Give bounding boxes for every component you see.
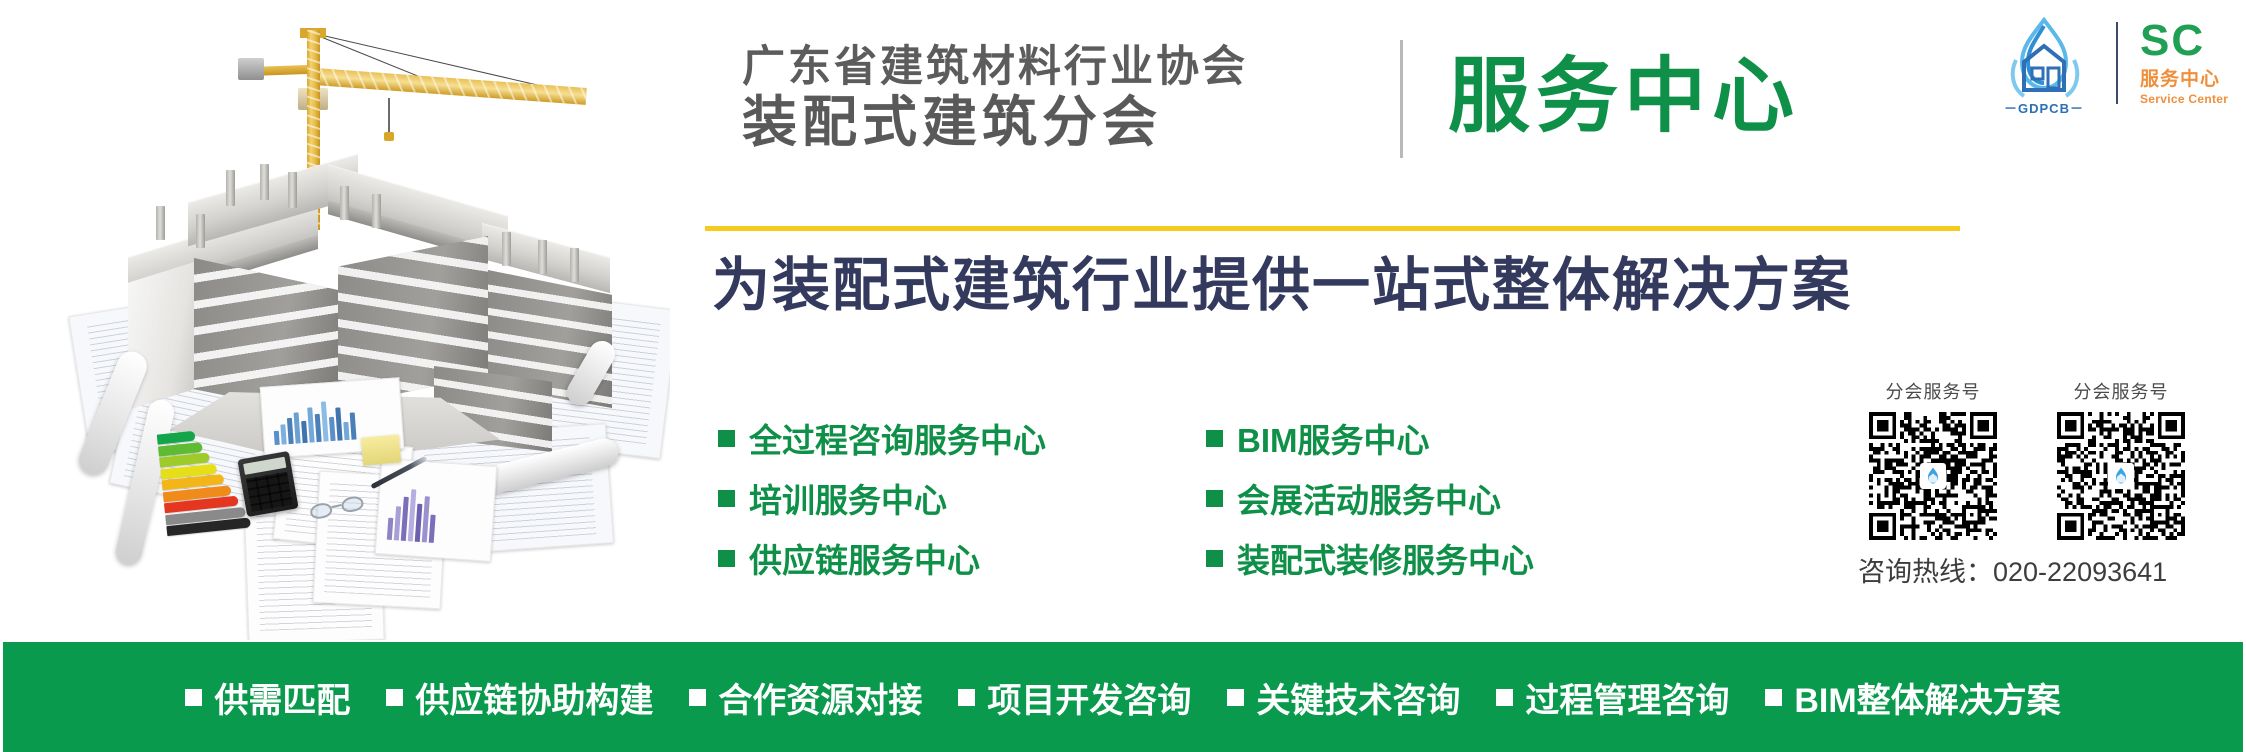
bar-item[interactable]: 关键技术咨询	[1227, 673, 1460, 722]
square-bullet-icon	[718, 490, 735, 507]
bar-item[interactable]: 项目开发咨询	[958, 673, 1191, 722]
title-vertical-divider	[1400, 40, 1403, 158]
gdpcb-house-flame-icon	[1994, 16, 2096, 108]
service-item-label: 全过程咨询服务中心	[749, 414, 1046, 462]
square-bullet-icon	[689, 689, 706, 706]
qr-label: 分会服务号	[2046, 378, 2196, 404]
gold-horizontal-rule	[705, 226, 1960, 231]
service-item-label: BIM服务中心	[1237, 414, 1430, 462]
bar-item[interactable]: 供应链协助构建	[386, 673, 653, 722]
square-bullet-icon	[1206, 490, 1223, 507]
association-name-line1: 广东省建筑材料行业协会	[742, 46, 1302, 89]
square-bullet-icon	[386, 689, 403, 706]
service-item[interactable]: 培训服务中心	[718, 468, 1046, 528]
energy-efficiency-rating-chart	[157, 426, 252, 539]
square-bullet-icon	[718, 430, 735, 447]
bar-item-label: 过程管理咨询	[1525, 673, 1729, 722]
service-item-label: 供应链服务中心	[749, 534, 980, 582]
square-bullet-icon	[1496, 689, 1513, 706]
square-bullet-icon	[185, 689, 202, 706]
crane-jib	[314, 68, 587, 105]
service-item-label: 培训服务中心	[749, 474, 947, 522]
service-item[interactable]: 全过程咨询服务中心	[718, 408, 1046, 468]
bar-item[interactable]: BIM整体解决方案	[1765, 673, 2060, 722]
association-title: 广东省建筑材料行业协会 装配式建筑分会	[742, 46, 1302, 150]
qr-center-logo-icon	[1920, 463, 1946, 489]
association-branch-line2: 装配式建筑分会	[742, 95, 1302, 150]
service-center-heading: 服务中心	[1448, 56, 1800, 138]
bar-item[interactable]: 过程管理咨询	[1496, 673, 1729, 722]
logo-block: －GDPCB－ SC 服务中心 Service Center	[1988, 14, 2238, 114]
crane-counterweight	[238, 58, 264, 80]
qr-code-image[interactable]	[2057, 412, 2185, 540]
square-bullet-icon	[958, 689, 975, 706]
service-item[interactable]: 会展活动服务中心	[1206, 468, 1534, 528]
square-bullet-icon	[1206, 430, 1223, 447]
bar-item-label: BIM整体解决方案	[1794, 673, 2060, 722]
service-item-label: 装配式装修服务中心	[1237, 534, 1534, 582]
bar-item-label: 合作资源对接	[718, 673, 922, 722]
qr-row: 分会服务号 分会服务号	[1858, 378, 2240, 540]
qr-contact-block: 分会服务号 分会服务号	[1858, 378, 2240, 589]
square-bullet-icon	[1206, 550, 1223, 567]
calculator-keys	[246, 471, 293, 512]
mini-bar-chart	[272, 395, 357, 445]
logo-abbrev: －GDPCB－	[1992, 98, 2096, 117]
qr-code-image[interactable]	[1869, 412, 1997, 540]
square-bullet-icon	[718, 550, 735, 567]
bar-item-label: 项目开发咨询	[987, 673, 1191, 722]
service-column-left: 全过程咨询服务中心 培训服务中心 供应链服务中心	[718, 408, 1046, 588]
logo-en-text: Service Center	[2140, 92, 2240, 106]
service-item[interactable]: 供应链服务中心	[718, 528, 1046, 588]
qr-cell: 分会服务号	[1858, 378, 2008, 540]
construction-site-3d-render	[10, 0, 670, 640]
square-bullet-icon	[1765, 689, 1782, 706]
square-bullet-icon	[1227, 689, 1244, 706]
service-item[interactable]: 装配式装修服务中心	[1206, 528, 1534, 588]
crane-hook	[388, 98, 390, 134]
logo-vertical-divider	[2116, 22, 2118, 104]
mini-bar-chart	[387, 478, 438, 543]
bar-item[interactable]: 供需匹配	[185, 673, 350, 722]
bar-item[interactable]: 合作资源对接	[689, 673, 922, 722]
calculator-icon	[237, 451, 298, 517]
logo-wordmark: SC 服务中心 Service Center	[2140, 20, 2240, 106]
qr-center-logo-icon	[2108, 463, 2134, 489]
tagline-text: 为装配式建筑行业提供一站式整体解决方案	[712, 254, 1852, 318]
logo-cn-text: 服务中心	[2140, 64, 2240, 91]
bar-item-label: 供需匹配	[214, 673, 350, 722]
hotline-text: 咨询热线：020-22093641	[1858, 550, 2240, 589]
service-column-right: BIM服务中心 会展活动服务中心 装配式装修服务中心	[1206, 408, 1534, 588]
bar-item-label: 关键技术咨询	[1256, 673, 1460, 722]
qr-label: 分会服务号	[1858, 378, 2008, 404]
logo-sc-text: SC	[2140, 20, 2240, 62]
bottom-service-bar: 供需匹配 供应链协助构建 合作资源对接 项目开发咨询 关键技术咨询 过程管理咨询…	[3, 642, 2243, 752]
service-item-label: 会展活动服务中心	[1237, 474, 1501, 522]
qr-cell: 分会服务号	[2046, 378, 2196, 540]
bar-item-label: 供应链协助构建	[415, 673, 653, 722]
service-item[interactable]: BIM服务中心	[1206, 408, 1534, 468]
sticky-note	[361, 434, 401, 465]
banner-root: 广东省建筑材料行业协会 装配式建筑分会 服务中心 为装配式建筑行业提供一站式整体…	[0, 0, 2246, 752]
